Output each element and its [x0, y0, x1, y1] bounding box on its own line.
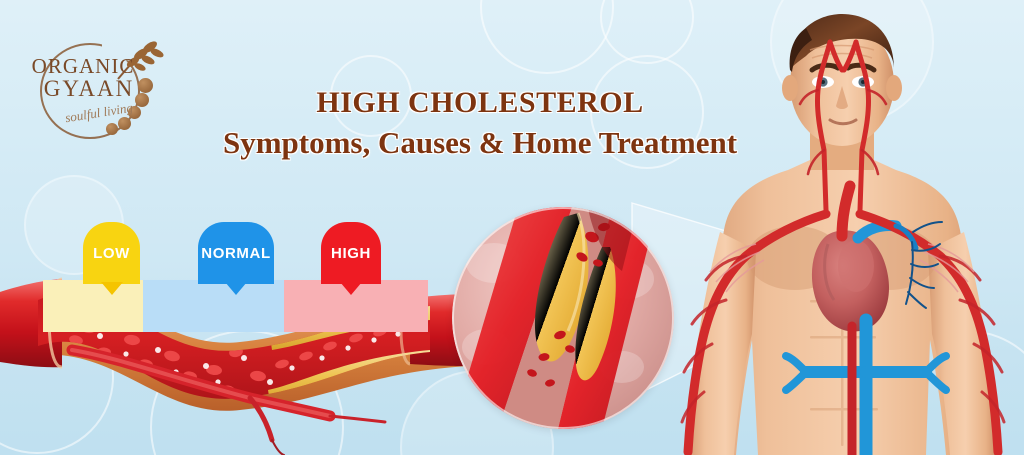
level-tab-high[interactable]: HIGH [321, 222, 381, 342]
level-pointer-low [101, 282, 123, 295]
level-cap-normal: NORMAL [198, 222, 274, 284]
level-cap-low: LOW [83, 222, 140, 284]
logo-seed-icon [106, 123, 118, 135]
head [782, 14, 902, 146]
level-tab-normal[interactable]: NORMAL [198, 222, 274, 342]
level-label-high: HIGH [331, 245, 371, 262]
bubble-decoration [480, 0, 614, 74]
level-tab-low[interactable]: LOW [83, 222, 140, 342]
brand-name-line1: ORGANIC [18, 55, 148, 77]
level-label-low: LOW [93, 245, 130, 262]
cholesterol-infographic-banner: ORGANIC GYAAN soulful living HIGH CHOLES… [0, 0, 1024, 455]
human-anatomy-figure [660, 0, 1024, 455]
brand-logo[interactable]: ORGANIC GYAAN soulful living [18, 33, 168, 143]
plaque-magnifier [452, 207, 674, 429]
level-label-normal: NORMAL [201, 245, 270, 262]
brand-name: ORGANIC GYAAN [18, 55, 148, 101]
level-pointer-high [340, 282, 362, 295]
level-cap-high: HIGH [321, 222, 381, 284]
level-pointer-normal [225, 282, 247, 295]
logo-seed-icon [118, 117, 131, 130]
brand-name-line2: GYAAN [18, 77, 148, 101]
